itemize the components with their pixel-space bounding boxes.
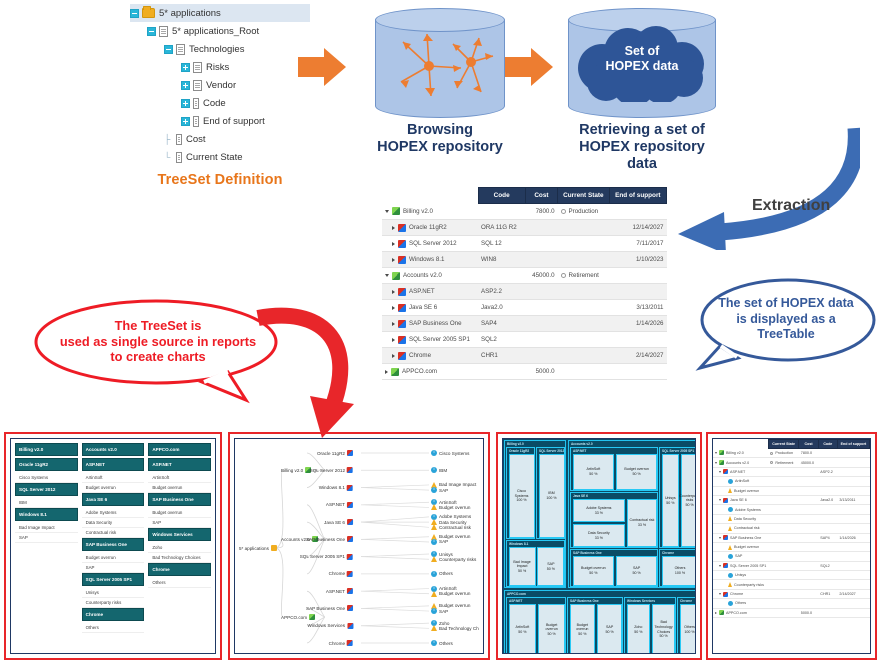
warning-icon xyxy=(728,488,732,493)
row-toggle-icon[interactable] xyxy=(392,354,395,358)
cell-code xyxy=(818,524,837,533)
table-row[interactable]: SQL Server 2005 SP1SQL2 xyxy=(713,561,870,570)
tree-branch-label: APPCO.com xyxy=(281,615,307,620)
block-group-header[interactable]: Oracle 11gR2 xyxy=(15,458,78,471)
column-header[interactable]: End of support xyxy=(609,188,666,204)
treemap-leaf[interactable]: Bad Image Impact50 % xyxy=(509,547,536,586)
row-toggle-icon[interactable] xyxy=(392,338,395,342)
row-label: Counterparty risks xyxy=(734,583,764,587)
treemap-subgroup[interactable]: Java SE 6Adobe Systems33 %Data Security3… xyxy=(570,492,658,548)
cell-end-of-support xyxy=(837,608,869,617)
treemap-leaf[interactable]: IBM100 % xyxy=(539,454,565,538)
cell-cost xyxy=(525,236,557,252)
treeset-node[interactable]: 5* applications xyxy=(130,4,310,22)
treemap-leaf[interactable]: Zoho50 % xyxy=(627,604,651,654)
tree-child-node[interactable]: Java SE 6 xyxy=(324,519,353,525)
cell-code xyxy=(818,571,837,580)
table-row[interactable]: ChromeCHR12/14/2027 xyxy=(713,589,870,598)
block-group-header[interactable]: Chrome xyxy=(82,608,145,621)
cell-end-of-support xyxy=(609,332,666,348)
treemap-subgroup[interactable]: ASP.NETArtinSoft50 %Budget overrun50 % xyxy=(570,447,658,491)
application-icon xyxy=(719,610,724,615)
tree-leaf-node[interactable]: iIBM xyxy=(431,467,447,473)
tree-child-node[interactable]: Chrome xyxy=(329,640,353,646)
row-label: SQL Server 2005 SP1 xyxy=(730,564,766,568)
block-item[interactable]: Adobe Systems xyxy=(82,508,145,518)
tree-child-node[interactable]: ASP.NET xyxy=(326,588,353,594)
block-column: Billing v2.0Oracle 11gR2Cisco SystemsSQL… xyxy=(15,443,78,649)
treemap-leaf[interactable]: Unisys50 % xyxy=(662,454,680,547)
cell-current-state xyxy=(768,580,798,589)
treetable-callout-text: The set of HOPEX data is displayed as a … xyxy=(694,296,878,343)
treetable-callout-bubble: The set of HOPEX data is displayed as a … xyxy=(694,272,878,376)
tree-leaf-label: Others xyxy=(439,571,453,576)
treemap-group[interactable]: APPCO.comASP.NETArtinSoft50 %Budget over… xyxy=(504,590,696,654)
row-label: SAP Business One xyxy=(730,536,761,540)
treemap-leaf[interactable]: Budget overrun50 % xyxy=(570,604,596,654)
row-name-cell: SQL Server 2005 SP1 xyxy=(382,332,478,348)
block-group-header[interactable]: Windows 8.1 xyxy=(15,508,78,521)
block-item[interactable]: Data Security xyxy=(82,518,145,528)
treemap-leaf[interactable]: Budget overrun50 % xyxy=(538,604,566,654)
treemap-leaf[interactable]: SAP50 % xyxy=(597,604,623,654)
treemap-subgroup[interactable]: Oracle 11gR2Cisco Systems100 % xyxy=(506,447,535,539)
block-item[interactable]: Cisco Systems xyxy=(15,473,78,483)
treeset-node[interactable]: Risks xyxy=(130,58,310,76)
treemap-subgroup[interactable]: SQL Server 2012IBM100 % xyxy=(536,447,565,539)
block-group-header[interactable]: Windows Services xyxy=(148,528,211,541)
column-header[interactable]: End of support xyxy=(837,440,869,449)
report-panel-block-list[interactable]: Billing v2.0Oracle 11gR2Cisco SystemsSQL… xyxy=(4,432,222,660)
row-toggle-icon[interactable] xyxy=(392,290,395,294)
technology-icon xyxy=(347,485,353,491)
tree-leaf-label: Budget overrun xyxy=(439,505,470,510)
treemap-leaf[interactable]: ArtinSoft50 % xyxy=(509,604,537,654)
row-label: Accounts v2.0 xyxy=(403,272,442,279)
block-item[interactable]: SAP xyxy=(15,533,78,543)
cell-current-state xyxy=(768,514,798,523)
expand-toggle-icon[interactable] xyxy=(181,81,190,90)
treemap-leaf-value: 100 % xyxy=(684,630,694,635)
tree-child-node[interactable]: Windows 8.1 xyxy=(319,485,353,491)
block-item[interactable]: Contractual risk xyxy=(82,528,145,538)
row-name-cell: Java SE 6 xyxy=(713,495,768,504)
cell-code: SQL 12 xyxy=(478,236,525,252)
cell-cost xyxy=(799,524,819,533)
table-row[interactable]: Accounts v2.0Retirement45000.0 xyxy=(713,458,870,467)
treemap-leaf[interactable]: Bad Technology Choices50 % xyxy=(652,604,676,654)
table-row[interactable]: Windows 8.1WIN81/10/2023 xyxy=(382,252,667,268)
report-panel-treetable[interactable]: Current StateCostCodeEnd of support Bill… xyxy=(706,432,877,660)
cell-current-state: Retirement xyxy=(768,458,798,467)
tree-child-label: Windows Services xyxy=(307,623,345,628)
right-treetable: Current StateCostCodeEnd of support Bill… xyxy=(713,439,870,618)
treeset-node[interactable]: Technologies xyxy=(130,40,310,58)
table-row[interactable]: ChromeCHR12/14/2027 xyxy=(382,348,667,364)
block-column-header[interactable]: APPCO.com xyxy=(148,443,211,456)
block-column-header[interactable]: Accounts v2.0 xyxy=(82,443,145,456)
block-group-header[interactable]: SAP Business One xyxy=(148,493,211,506)
tree-child-label: Chrome xyxy=(329,641,345,646)
tree-child-node[interactable]: ASP.NET xyxy=(326,502,353,508)
table-row[interactable]: SAP Business OneSAP41/14/2026 xyxy=(713,533,870,542)
row-toggle-icon[interactable] xyxy=(715,612,717,614)
treemap-subgroup[interactable]: ASP.NETArtinSoft50 %Budget overrun50 % xyxy=(506,597,566,654)
treeset-definition-panel: 5* applications5* applications_RootTechn… xyxy=(130,4,310,188)
column-header[interactable] xyxy=(713,440,768,449)
treemap-leaf[interactable]: Budget overrun50 % xyxy=(616,454,658,490)
tree-leaf-label: Contractual risk xyxy=(439,525,471,530)
extraction-arrow-icon xyxy=(660,120,860,250)
treemap-leaf[interactable]: Others100 % xyxy=(662,556,697,586)
cell-code: SQL2 xyxy=(818,561,837,570)
block-item[interactable]: IBM xyxy=(15,498,78,508)
treeset-callout-bubble: The TreeSet is used as single source in … xyxy=(32,296,284,406)
cell-cost xyxy=(799,580,819,589)
cell-end-of-support xyxy=(837,514,869,523)
table-row[interactable]: Accounts v2.045000.0Retirement xyxy=(382,268,667,284)
tree-leaf-node[interactable]: iCisco Systems xyxy=(431,450,469,456)
table-row[interactable]: Java SE 6Java2.03/13/2011 xyxy=(713,495,870,504)
tree-branch-node[interactable]: Billing v2.0 xyxy=(281,467,311,473)
column-header[interactable]: Current State xyxy=(558,188,610,204)
block-item[interactable]: Budget overrun xyxy=(148,508,211,518)
cell-current-state xyxy=(558,348,610,364)
collapse-toggle-icon[interactable] xyxy=(130,9,139,18)
column-header[interactable]: Cost xyxy=(525,188,557,204)
row-toggle-icon[interactable] xyxy=(392,322,395,326)
treeset-title: TreeSet Definition xyxy=(130,172,310,188)
cell-end-of-support: 7/11/2017 xyxy=(609,236,666,252)
treeset-node-label: 5* applications_Root xyxy=(172,26,259,37)
cell-end-of-support xyxy=(609,204,666,220)
row-toggle-icon[interactable] xyxy=(715,452,717,454)
tree-child-label: ASP.NET xyxy=(326,589,345,594)
table-row[interactable]: Counterparty risks xyxy=(713,580,870,589)
block-list-chart: Billing v2.0Oracle 11gR2Cisco SystemsSQL… xyxy=(10,438,216,654)
table-row[interactable]: Java SE 6Java2.03/13/2011 xyxy=(382,300,667,316)
info-icon xyxy=(728,479,733,484)
info-icon: i xyxy=(431,571,437,577)
row-label: ArtinSoft xyxy=(735,479,749,483)
table-row[interactable]: ArtinSoft xyxy=(713,477,870,486)
column-header[interactable]: Current State xyxy=(768,440,798,449)
hopex-data-cylinder: Set of HOPEX data Retrieving a set of HO… xyxy=(568,8,716,118)
row-name-cell: Accounts v2.0 xyxy=(382,268,478,284)
technology-icon xyxy=(723,469,728,474)
block-item[interactable]: Bad Technology Choices xyxy=(148,553,211,563)
treemap-subgroup[interactable]: ChromeOthers100 % xyxy=(677,597,696,654)
report-panel-tree-graph[interactable]: 5* applicationsBilling v2.0Oracle 11gR2i… xyxy=(228,432,490,660)
table-row[interactable]: SAP Business OneSAP41/14/2026 xyxy=(382,316,667,332)
treeset-tree[interactable]: 5* applications5* applications_RootTechn… xyxy=(130,4,310,166)
expand-toggle-icon[interactable] xyxy=(181,63,190,72)
tree-leaf-label: Budget overrun xyxy=(439,591,470,596)
tree-leaf-node[interactable]: Bad Technology Ch xyxy=(431,625,479,631)
tree-leaf-node[interactable]: Counterparty risks xyxy=(431,556,476,562)
cell-current-state xyxy=(768,486,798,495)
treemap-subgroup[interactable]: SAP Business OneBudget overrun50 %SAP50 … xyxy=(570,549,658,587)
table-row[interactable]: Unisys xyxy=(713,571,870,580)
tree-branch-node[interactable]: APPCO.com xyxy=(281,614,315,620)
row-toggle-icon[interactable] xyxy=(392,258,395,262)
cell-cost: 5000.0 xyxy=(525,364,557,380)
technology-icon xyxy=(398,240,406,248)
block-item[interactable]: Budget overrun xyxy=(148,483,211,493)
expand-toggle-icon[interactable] xyxy=(181,99,190,108)
cell-end-of-support xyxy=(837,524,869,533)
block-item[interactable]: Others xyxy=(148,578,211,588)
table-row[interactable]: Billing v2.07800.0Production xyxy=(382,204,667,220)
treeset-node[interactable]: └Current State xyxy=(130,148,310,166)
table-row[interactable]: Contractual risk xyxy=(713,524,870,533)
row-label: Others xyxy=(735,601,746,605)
row-label: Unisys xyxy=(735,573,746,577)
treemap-leaf[interactable]: SAP50 % xyxy=(616,556,658,586)
row-label: Billing v2.0 xyxy=(726,451,744,455)
row-name-cell: ArtinSoft xyxy=(713,477,768,486)
table-row[interactable]: Others xyxy=(713,599,870,608)
block-item[interactable]: Budget overrun xyxy=(82,483,145,493)
cell-cost xyxy=(799,505,819,514)
tree-leaf-node[interactable]: Contractual risk xyxy=(431,524,471,530)
treemap-leaf-value: 33 % xyxy=(638,523,646,528)
tree-child-label: SQL Server 2005 SP1 xyxy=(300,554,345,559)
row-toggle-icon[interactable] xyxy=(392,306,395,310)
cell-current-state xyxy=(558,252,610,268)
tree-child-node[interactable]: SAP Business One xyxy=(306,605,353,611)
treemap-leaf[interactable]: ArtinSoft50 % xyxy=(573,454,615,490)
tree-leaf-node[interactable]: iOthers xyxy=(431,640,453,646)
tree-child-node[interactable]: SAP Business One xyxy=(306,536,353,542)
cell-end-of-support xyxy=(837,458,869,467)
block-item[interactable]: ArtinSoft xyxy=(148,473,211,483)
tree-leaf-node[interactable]: Budget overrun xyxy=(431,504,470,510)
table-row[interactable]: ASP.NETASP2.2 xyxy=(713,467,870,476)
red-report-arrow-icon xyxy=(250,300,380,440)
application-icon xyxy=(392,272,400,280)
row-toggle-icon[interactable] xyxy=(385,370,388,374)
tree-child-node[interactable]: SQL Server 2005 SP1 xyxy=(300,554,353,560)
block-item[interactable]: Zoho xyxy=(148,543,211,553)
block-group-header[interactable]: Chrome xyxy=(148,563,211,576)
row-name-cell: SAP Business One xyxy=(382,316,478,332)
treeset-node[interactable]: 5* applications_Root xyxy=(130,22,310,40)
cell-current-state xyxy=(768,589,798,598)
table-row[interactable]: Budget overrun xyxy=(713,542,870,551)
cell-current-state xyxy=(558,300,610,316)
row-toggle-icon[interactable] xyxy=(385,274,389,277)
treemap-subgroup[interactable]: Windows ServicesZoho50 %Bad Technology C… xyxy=(624,597,676,654)
cell-end-of-support xyxy=(837,571,869,580)
table-row[interactable]: APPCO.com5000.0 xyxy=(382,364,667,380)
cell-end-of-support xyxy=(609,364,666,380)
document-icon xyxy=(159,26,168,37)
info-icon: i xyxy=(431,539,437,545)
row-toggle-icon[interactable] xyxy=(385,210,389,213)
cell-current-state xyxy=(558,332,610,348)
info-icon xyxy=(728,573,733,578)
row-toggle-icon[interactable] xyxy=(719,471,721,473)
cell-code: ASP2.2 xyxy=(478,284,525,300)
block-item[interactable]: SAP xyxy=(148,518,211,528)
treemap-group[interactable]: Billing v2.0Oracle 11gR2Cisco Systems100… xyxy=(504,440,566,588)
state-dot-icon xyxy=(561,209,566,214)
tree-child-node[interactable]: Oracle 11gR2 xyxy=(317,450,353,456)
cell-end-of-support: 1/14/2026 xyxy=(837,533,869,542)
expand-toggle-icon[interactable] xyxy=(181,117,190,126)
treemap-leaf-value: 100 % xyxy=(675,571,685,576)
treeset-node-label: 5* applications xyxy=(159,8,221,19)
tree-child-node[interactable]: Chrome xyxy=(329,571,353,577)
treemap-leaf-label: Counterparty risks xyxy=(678,494,696,503)
column-header[interactable] xyxy=(382,188,478,204)
table-row[interactable]: Oracle 11gR2ORA 11G R212/14/2027 xyxy=(382,220,667,236)
block-item[interactable]: Others xyxy=(82,623,145,633)
treemap-leaf-value: 50 % xyxy=(660,634,668,639)
block-item[interactable]: SAP xyxy=(82,563,145,573)
treemap-leaf-value: 50 % xyxy=(606,630,614,635)
block-item[interactable]: Unisys xyxy=(82,588,145,598)
treemap-subgroup[interactable]: SAP Business OneBudget overrun50 %SAP50 … xyxy=(567,597,623,654)
hopex-repository-cylinder: Browsing HOPEX repository xyxy=(375,8,505,118)
block-item[interactable]: Counterparty risks xyxy=(82,598,145,608)
cell-cost xyxy=(799,561,819,570)
cell-code xyxy=(478,268,525,284)
treeset-node-label: Current State xyxy=(186,152,243,163)
row-label: SAP xyxy=(735,554,742,558)
treemap-leaf-value: 50 % xyxy=(666,501,674,506)
table-row[interactable]: ASP.NETASP2.2 xyxy=(382,284,667,300)
hopex-treetable[interactable]: CodeCostCurrent StateEnd of support Bill… xyxy=(382,187,667,380)
technology-icon xyxy=(723,535,728,540)
cell-end-of-support xyxy=(837,552,869,561)
block-group-header[interactable]: SQL Server 2005 SP1 xyxy=(82,573,145,586)
block-item[interactable]: Budget overrun xyxy=(82,553,145,563)
cell-current-state xyxy=(558,364,610,380)
treemap-leaf[interactable]: Budget overrun50 % xyxy=(573,556,615,586)
technology-icon xyxy=(347,554,353,560)
report-panel-treemap[interactable]: Billing v2.0Oracle 11gR2Cisco Systems100… xyxy=(496,432,702,660)
row-toggle-icon[interactable] xyxy=(719,565,721,567)
cell-end-of-support xyxy=(837,505,869,514)
tree-child-label: ASP.NET xyxy=(326,502,345,507)
treemap-leaf[interactable]: Counterparty risks50 % xyxy=(681,454,696,547)
cell-current-state xyxy=(768,571,798,580)
table-row[interactable]: Adobe Systems xyxy=(713,505,870,514)
table-row[interactable]: SAP xyxy=(713,552,870,561)
treeset-node-label: Cost xyxy=(186,134,206,145)
tree-child-label: SAP Business One xyxy=(306,606,345,611)
block-column-header[interactable]: Billing v2.0 xyxy=(15,443,78,456)
tree-leaf-node[interactable]: iSAP xyxy=(431,487,448,493)
block-group-header[interactable]: ASP.NET xyxy=(148,458,211,471)
tree-root-node[interactable]: 5* applications xyxy=(239,545,277,551)
treemap-leaf-value: 50 % xyxy=(634,630,642,635)
info-icon: i xyxy=(431,467,437,473)
row-toggle-icon[interactable] xyxy=(719,537,721,539)
treeset-node[interactable]: End of support xyxy=(130,112,310,130)
treeset-node[interactable]: ├Cost xyxy=(130,130,310,148)
row-toggle-icon[interactable] xyxy=(392,242,395,246)
table-row[interactable]: APPCO.com5000.0 xyxy=(713,608,870,617)
cell-end-of-support xyxy=(837,477,869,486)
treemap-leaf[interactable]: Adobe Systems33 % xyxy=(573,499,626,522)
cell-cost xyxy=(525,332,557,348)
row-toggle-icon[interactable] xyxy=(719,499,721,501)
column-header[interactable]: Code xyxy=(818,440,837,449)
cell-current-state xyxy=(768,505,798,514)
treemap-leaf[interactable]: SAP50 % xyxy=(537,547,564,586)
tree-leaf-node[interactable]: Budget overrun xyxy=(431,591,470,597)
block-group-header[interactable]: SAP Business One xyxy=(82,538,145,551)
row-name-cell: SAP xyxy=(713,552,768,561)
block-group-header[interactable]: Java SE 6 xyxy=(82,493,145,506)
cell-cost: 5000.0 xyxy=(799,608,819,617)
column-header[interactable]: Code xyxy=(478,188,525,204)
application-icon xyxy=(719,450,724,455)
treemap-leaf-value: 50 % xyxy=(589,472,597,477)
treemap-leaf-value: 50 % xyxy=(633,571,641,576)
row-name-cell: APPCO.com xyxy=(713,608,768,617)
treemap-group[interactable]: Accounts v2.0ASP.NETArtinSoft50 %Budget … xyxy=(568,440,696,588)
cell-code: SAP4 xyxy=(818,533,837,542)
row-label: ASP.NET xyxy=(730,470,745,474)
tree-child-node[interactable]: Windows Services xyxy=(307,623,353,629)
collapse-toggle-icon[interactable] xyxy=(164,45,173,54)
tree-leaf-node[interactable]: iSAP xyxy=(431,608,448,614)
block-group-header[interactable]: ASP.NET xyxy=(82,458,145,471)
cell-current-state xyxy=(768,533,798,542)
tree-child-node[interactable]: SQL Server 2012 xyxy=(310,467,353,473)
tree-leaf-node[interactable]: iSAP xyxy=(431,539,448,545)
table-row[interactable]: SQL Server 2005 SP1SQL2 xyxy=(382,332,667,348)
table-row[interactable]: Data Security xyxy=(713,514,870,523)
treemap-leaf[interactable]: Others100 % xyxy=(680,604,697,654)
state-dot-icon xyxy=(770,461,773,464)
folder-icon xyxy=(142,8,155,18)
row-name-cell: Billing v2.0 xyxy=(713,449,768,458)
block-item[interactable]: Bad Image Impact xyxy=(15,523,78,533)
treemap-leaf[interactable]: Contractual risk33 % xyxy=(627,499,658,547)
treeset-node[interactable]: Code xyxy=(130,94,310,112)
treeset-node[interactable]: Vendor xyxy=(130,76,310,94)
tree-leaf-node[interactable]: iOthers xyxy=(431,571,453,577)
row-toggle-icon[interactable] xyxy=(719,593,721,595)
row-toggle-icon[interactable] xyxy=(715,462,717,464)
cell-end-of-support: 1/10/2023 xyxy=(609,252,666,268)
treemap-subgroup[interactable]: Windows 8.1Bad Image Impact50 %SAP50 % xyxy=(506,540,565,587)
treemap-subgroup[interactable]: SQL Server 2005 SP1Unisys50 %Counterpart… xyxy=(659,447,696,548)
block-group-header[interactable]: SQL Server 2012 xyxy=(15,483,78,496)
row-name-cell: Budget overrun xyxy=(713,486,768,495)
block-item[interactable]: ArtinSoft xyxy=(82,473,145,483)
treemap-leaf[interactable]: Cisco Systems100 % xyxy=(509,454,535,538)
treemap-subgroup[interactable]: ChromeOthers100 % xyxy=(659,549,696,587)
cell-code xyxy=(818,542,837,551)
table-row[interactable]: SQL Server 2012SQL 127/11/2017 xyxy=(382,236,667,252)
table-row[interactable]: Budget overrun xyxy=(713,486,870,495)
column-header[interactable]: Cost xyxy=(799,440,819,449)
technology-icon xyxy=(347,571,353,577)
tree-leaf-label: Cisco Systems xyxy=(439,451,469,456)
cell-code xyxy=(818,486,837,495)
row-toggle-icon[interactable] xyxy=(392,226,395,230)
table-row[interactable]: Billing v2.0Production7800.0 xyxy=(713,449,870,458)
collapse-toggle-icon[interactable] xyxy=(147,27,156,36)
treemap-leaf[interactable]: Data Security33 % xyxy=(573,524,626,547)
treemap-leaf-label: Budget overrun xyxy=(539,623,565,632)
